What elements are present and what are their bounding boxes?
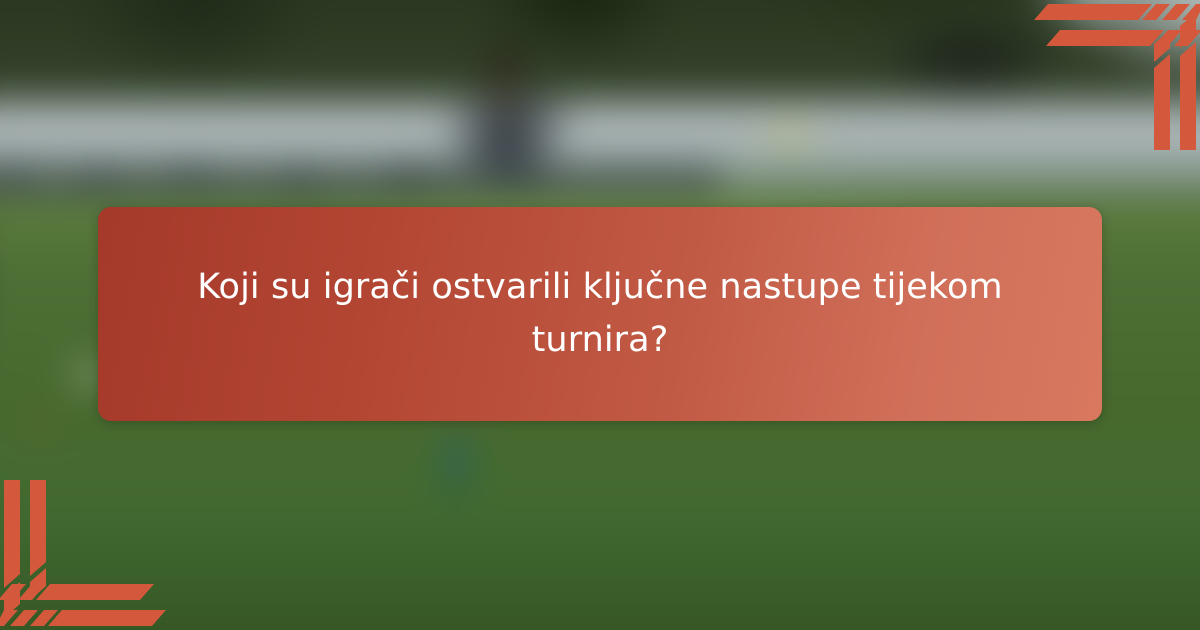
background-blur-blob <box>730 110 850 160</box>
background-blur-blob <box>1020 0 1160 70</box>
background-cone <box>18 410 62 438</box>
background-vignette <box>0 490 1200 630</box>
background-player-left-secondary <box>0 100 10 460</box>
question-text: Koji su igrači ostvarili ključne nastupe… <box>185 261 1015 367</box>
background-player-center-torso <box>420 90 600 160</box>
question-card-graphic: Koji su igrači ostvarili ključne nastupe… <box>0 0 1200 630</box>
question-card: Koji su igrači ostvarili ključne nastupe… <box>98 207 1102 421</box>
